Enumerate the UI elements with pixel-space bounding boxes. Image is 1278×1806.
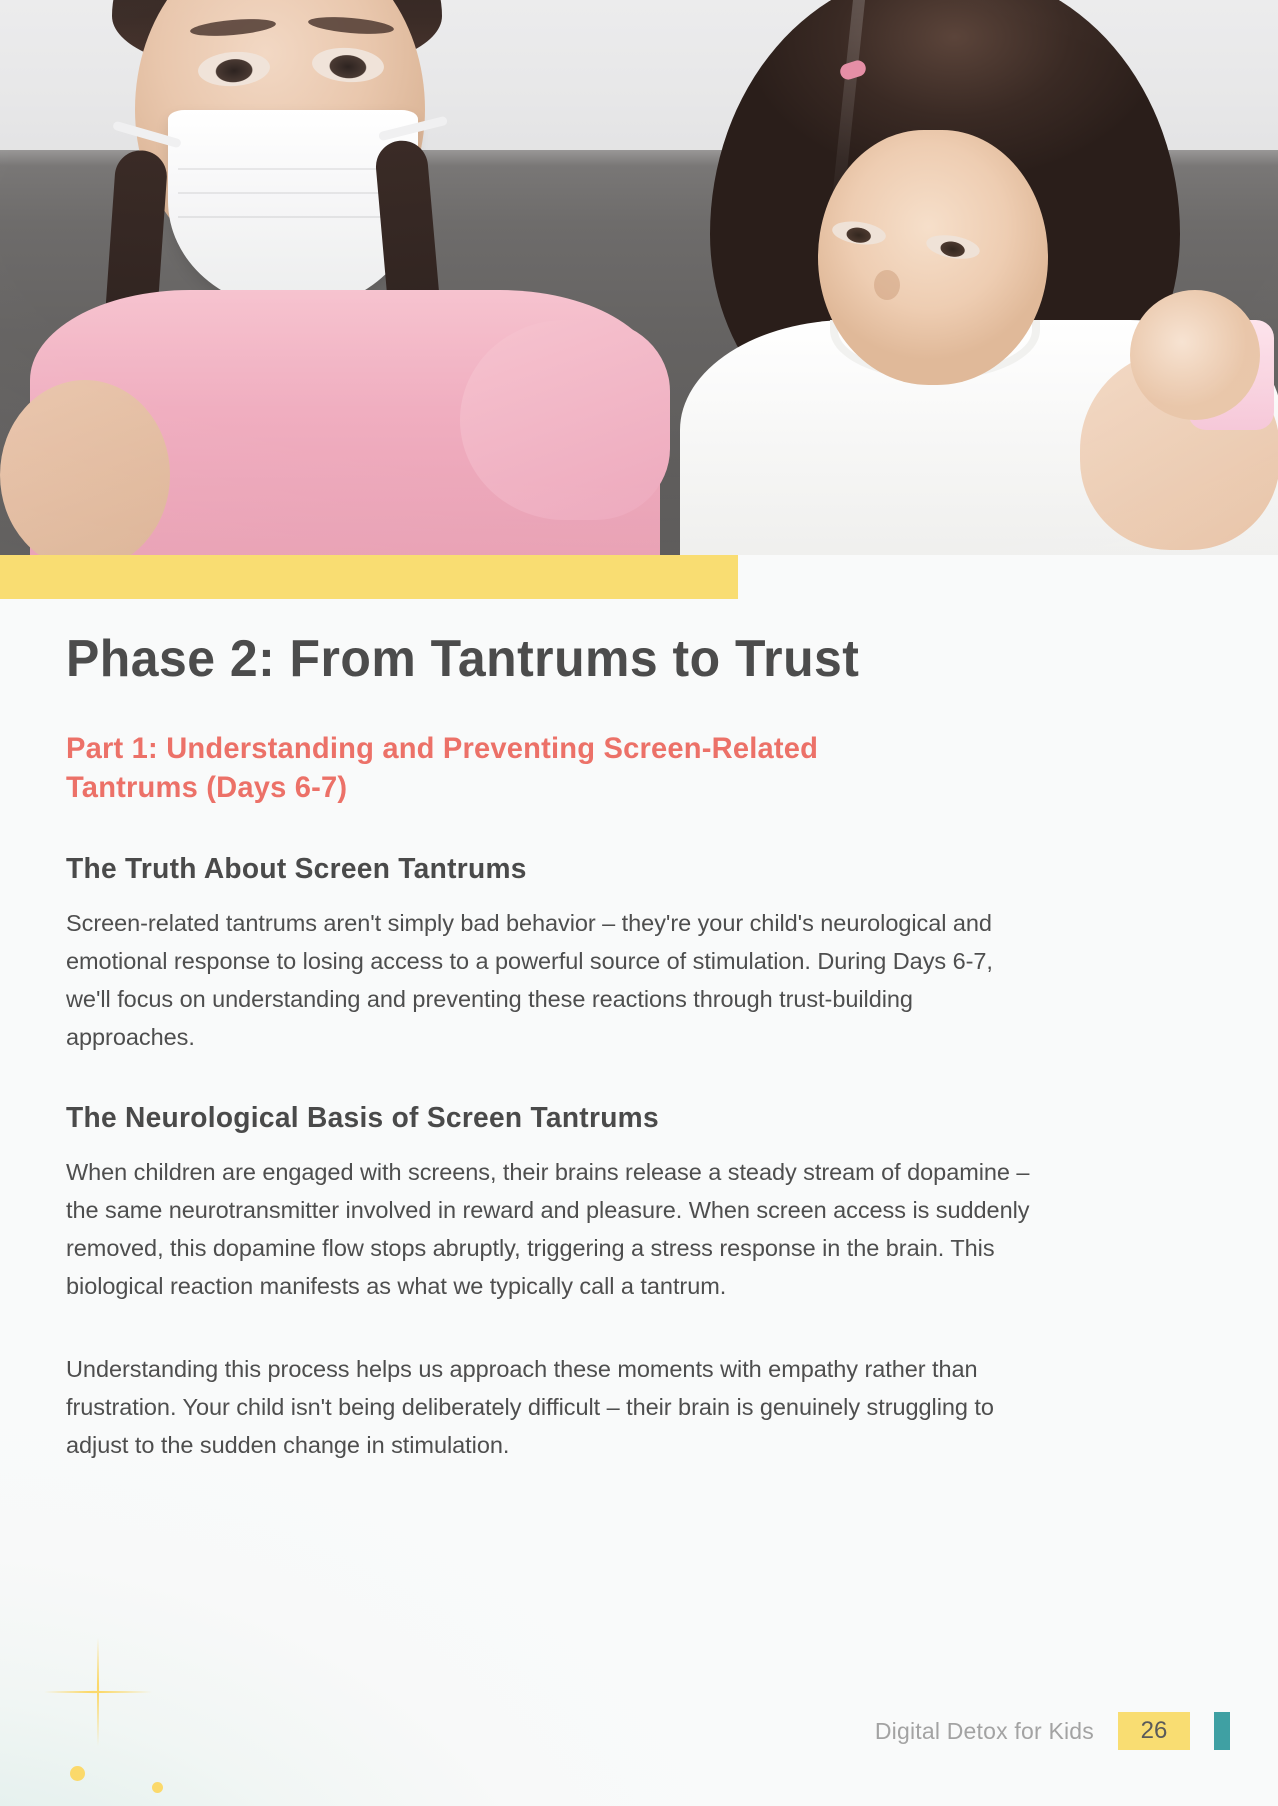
book-title-label: Digital Detox for Kids — [875, 1718, 1094, 1745]
footer-group: Digital Detox for Kids 26 — [875, 1712, 1230, 1750]
section-heading-truth-about-screen-tantrums: The Truth About Screen Tantrums — [66, 853, 1145, 886]
section-heading-neurological-basis: The Neurological Basis of Screen Tantrum… — [66, 1102, 1145, 1135]
decorative-dot — [152, 1782, 163, 1793]
photo-soft-overlay — [0, 0, 1278, 555]
page-subtitle: Part 1: Understanding and Preventing Scr… — [66, 730, 939, 807]
yellow-accent-bar — [0, 555, 738, 599]
section-paragraph: When children are engaged with screens, … — [66, 1153, 1032, 1305]
page-title: Phase 2: From Tantrums to Trust — [66, 630, 1134, 688]
section-paragraph: Screen-related tantrums aren't simply ba… — [66, 904, 1032, 1056]
page-footer: Digital Detox for Kids 26 — [0, 1712, 1278, 1758]
page-number-badge: 26 — [1118, 1712, 1190, 1750]
page-content: Phase 2: From Tantrums to Trust Part 1: … — [66, 630, 1178, 1464]
section-paragraph: Understanding this process helps us appr… — [66, 1350, 1032, 1464]
decorative-dot — [70, 1766, 85, 1781]
teal-tick-marker — [1214, 1712, 1230, 1750]
document-page: Phase 2: From Tantrums to Trust Part 1: … — [0, 0, 1278, 1806]
hero-photo — [0, 0, 1278, 555]
